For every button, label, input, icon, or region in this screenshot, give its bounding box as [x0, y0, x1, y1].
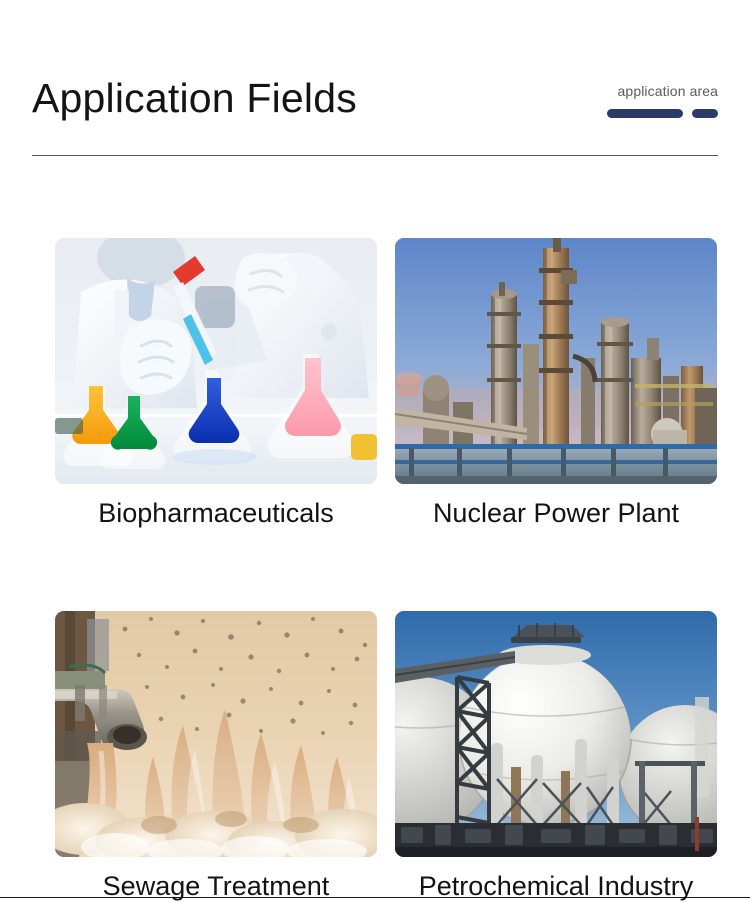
spherical-storage-tanks-illustration [395, 611, 717, 857]
card-label: Biopharmaceuticals [55, 498, 377, 529]
badge-bar-group [582, 109, 718, 118]
application-fields-grid: Biopharmaceuticals [55, 238, 717, 902]
application-card[interactable]: Nuclear Power Plant [395, 238, 717, 529]
card-label: Sewage Treatment [55, 871, 377, 902]
application-area-badge: application area [582, 84, 718, 118]
card-label: Nuclear Power Plant [395, 498, 717, 529]
application-card[interactable]: Petrochemical Industry [395, 611, 717, 902]
laboratory-flasks-photo[interactable] [55, 238, 377, 484]
header-divider [32, 155, 718, 156]
card-label: Petrochemical Industry [395, 871, 717, 902]
application-card[interactable]: Sewage Treatment [55, 611, 377, 902]
application-area-label: application area [582, 84, 718, 98]
wastewater-discharge-photo[interactable] [55, 611, 377, 857]
badge-bar-short-icon [692, 109, 718, 118]
page-header: Application Fields application area [0, 0, 750, 156]
application-card[interactable]: Biopharmaceuticals [55, 238, 377, 529]
refinery-towers-photo[interactable] [395, 238, 717, 484]
badge-bar-long-icon [607, 109, 683, 118]
spherical-storage-tanks-photo[interactable] [395, 611, 717, 857]
refinery-towers-illustration [395, 238, 717, 484]
laboratory-flasks-illustration [55, 238, 377, 484]
page-title: Application Fields [32, 78, 357, 119]
wastewater-discharge-illustration [55, 611, 377, 857]
